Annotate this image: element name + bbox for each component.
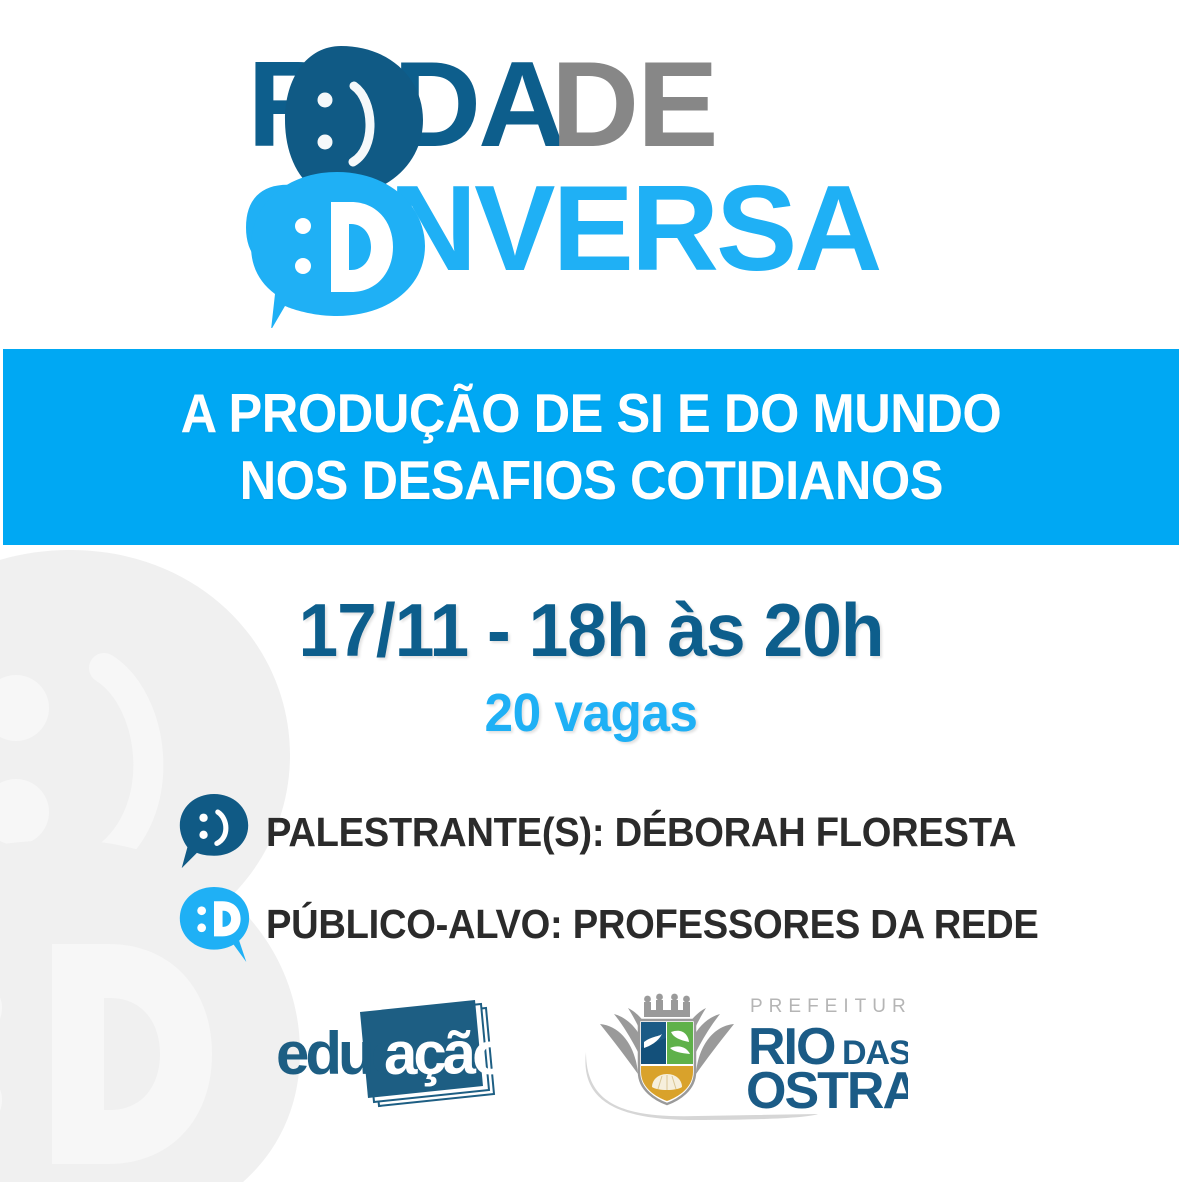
educacao-word-light: ação bbox=[384, 1020, 504, 1087]
logo-word-de: DE bbox=[551, 38, 716, 172]
banner-line-2: NOS DESAFIOS COTIDIANOS bbox=[239, 447, 943, 514]
roda-de-conversa-logotype: R DA DE C NVERSA bbox=[241, 38, 941, 328]
date-block: 17/11 - 18h às 20h 20 vagas bbox=[0, 593, 1182, 740]
logo-bubble-grin-icon bbox=[251, 172, 425, 328]
banner-line-1: A PRODUÇÃO DE SI E DO MUNDO bbox=[181, 380, 1002, 447]
educacao-label: educação bbox=[274, 1111, 275, 1112]
speech-bubble-smile-icon bbox=[176, 792, 252, 872]
info-rows: PALESTRANTE(S): DÉBORAH FLORESTA PÚBLICO… bbox=[0, 786, 1182, 970]
title-banner: A PRODUÇÃO DE SI E DO MUNDO NOS DESAFIOS… bbox=[3, 349, 1179, 545]
prefeitura-rio-das-ostras-logo: PREFEITURA RIO DAS OSTRAS bbox=[578, 990, 908, 1120]
speaker-label: PALESTRANTE(S): bbox=[266, 809, 604, 855]
info-row-speaker: PALESTRANTE(S): DÉBORAH FLORESTA bbox=[0, 786, 1182, 878]
poster-canvas: R DA DE C NVERSA A PRODUÇÃO DE SI bbox=[0, 0, 1182, 1182]
speaker-name: DÉBORAH FLORESTA bbox=[615, 809, 1017, 855]
logo-word-conversa-tail: NVERSA bbox=[389, 160, 879, 296]
vacancies-count: 20 vagas bbox=[30, 686, 1153, 740]
crest-crown-icon bbox=[644, 994, 690, 1017]
info-row-audience: PÚBLICO-ALVO: PROFESSORES DA REDE bbox=[0, 878, 1182, 970]
audience-value: PROFESSORES DA REDE bbox=[573, 901, 1039, 947]
prefeitura-label: PREFEITURA bbox=[750, 996, 908, 1017]
speech-bubble-grin-icon bbox=[176, 884, 252, 964]
event-logo: R DA DE C NVERSA bbox=[0, 38, 1182, 338]
audience-label: PÚBLICO-ALVO: bbox=[266, 901, 562, 947]
audience-text: PÚBLICO-ALVO: PROFESSORES DA REDE bbox=[266, 901, 1039, 948]
speaker-text: PALESTRANTE(S): DÉBORAH FLORESTA bbox=[266, 809, 1016, 856]
ostras-label: OSTRAS bbox=[746, 1062, 908, 1120]
educacao-logo: educ ação educação bbox=[274, 996, 504, 1114]
footer-logos: educ ação educação bbox=[0, 975, 1182, 1135]
event-datetime: 17/11 - 18h às 20h bbox=[30, 593, 1153, 668]
crest-shield-icon bbox=[639, 1020, 695, 1104]
